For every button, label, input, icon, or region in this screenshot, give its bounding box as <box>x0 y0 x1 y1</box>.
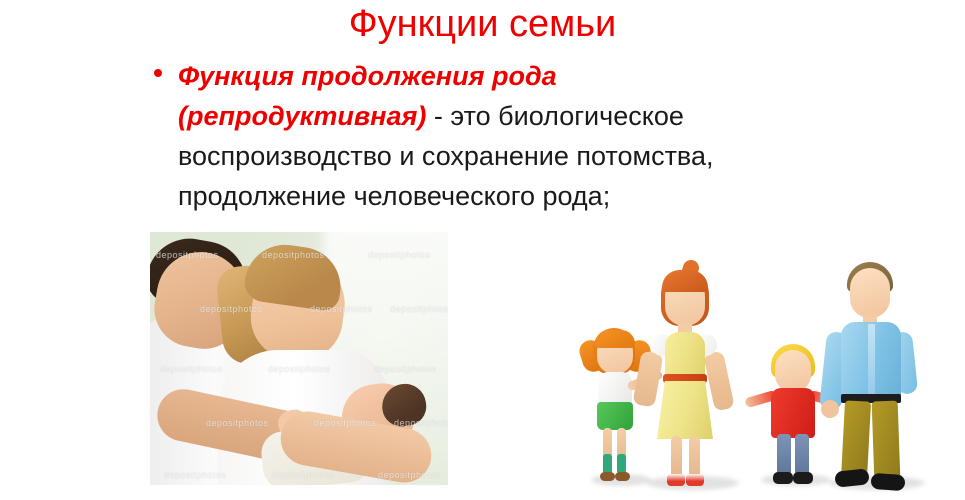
father-pants-right <box>872 401 901 482</box>
boy-shirt <box>771 388 815 438</box>
mother-leg-left <box>671 436 682 478</box>
slide-canvas: Функции семьи Функция продолжения рода (… <box>0 0 965 500</box>
girl-shoe-right <box>615 472 630 481</box>
page-title: Функции семьи <box>0 2 965 46</box>
girl-skirt <box>597 402 633 430</box>
body-text-block: Функция продолжения рода (репродуктивная… <box>150 56 810 216</box>
girl-bangs <box>595 330 635 348</box>
bullet-marker-icon <box>154 69 162 77</box>
mother-bangs <box>662 270 708 292</box>
mother-dress-skirt <box>657 381 713 439</box>
boy-shoe-left <box>773 472 793 484</box>
boy-head <box>775 350 811 392</box>
father-pants-left <box>841 400 871 479</box>
girl-sock-left <box>603 454 612 474</box>
girl-sock-right <box>617 454 626 474</box>
father-head <box>850 268 890 318</box>
mother-shoe-right <box>686 474 704 486</box>
girl-shirt <box>598 372 632 406</box>
father-shirt-placket <box>868 324 875 396</box>
bullet-paragraph: Функция продолжения рода (репродуктивная… <box>178 56 810 216</box>
mother-shoe-left <box>667 474 685 486</box>
boy-jeans-right <box>795 434 809 476</box>
cartoon-family-illustration <box>585 248 940 490</box>
father-hand <box>821 400 839 418</box>
boy-jeans-left <box>777 434 791 476</box>
boy-shoe-right <box>793 472 813 484</box>
mother-leg-right <box>689 436 700 478</box>
father-shoe-right <box>870 473 905 491</box>
mother-dress-bodice <box>665 332 705 380</box>
girl-shoe-left <box>600 472 615 481</box>
list-item: Функция продолжения рода (репродуктивная… <box>150 56 810 216</box>
family-photo: depositphotosdepositphotosdepositphotosd… <box>150 232 448 485</box>
